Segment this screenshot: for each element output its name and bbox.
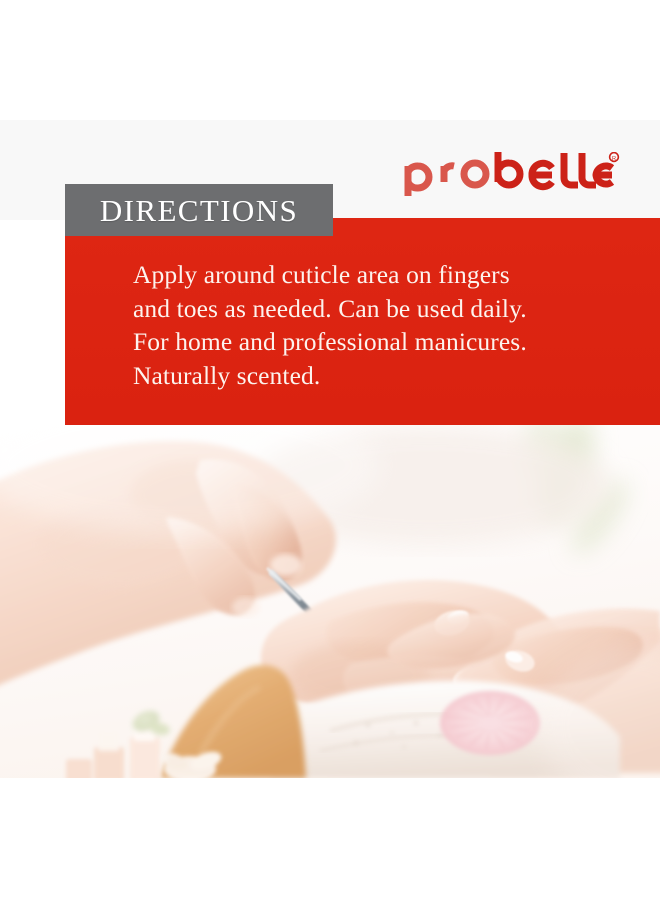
directions-line: Apply around cuticle area on fingers <box>133 258 613 292</box>
logo-belle-letters <box>498 152 612 187</box>
pink-flower <box>440 691 540 755</box>
logo-pro-letters <box>408 163 486 196</box>
directions-badge-label: DIRECTIONS <box>100 195 298 226</box>
directions-badge: DIRECTIONS <box>65 184 333 236</box>
manicure-photograph <box>0 425 660 778</box>
directions-line: and toes as needed. Can be used daily. <box>133 292 613 326</box>
directions-line: For home and professional manicures. <box>133 325 613 359</box>
probelle-logo: R <box>404 152 620 198</box>
top-white-gutter <box>0 0 660 120</box>
svg-text:R: R <box>612 156 616 162</box>
directions-text-block: Apply around cuticle area on fingers and… <box>133 258 613 392</box>
bottom-white-gutter <box>0 778 660 900</box>
product-infographic-page: R DIRECTIONS Apply around cuticle area o… <box>0 0 660 900</box>
registered-trademark-icon: R <box>610 153 619 162</box>
directions-line: Naturally scented. <box>133 359 613 393</box>
photo-canvas <box>0 425 660 778</box>
